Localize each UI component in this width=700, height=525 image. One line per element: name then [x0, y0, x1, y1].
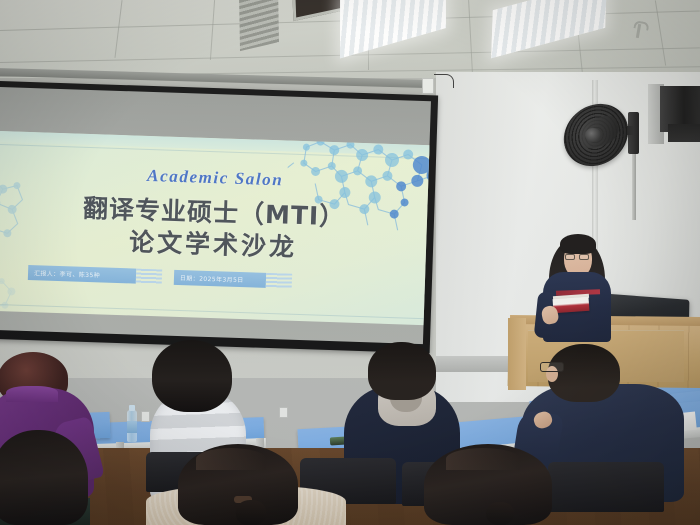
classroom-photo: Academic Salon 翻译专业硕士（MTI） 论文学术沙龙 汇报人：李可…: [0, 0, 700, 525]
hair: [152, 340, 232, 412]
glasses-icon: [565, 254, 591, 260]
ceiling-hook: [636, 24, 641, 38]
ceiling-grid-line: [114, 0, 122, 58]
coat-collar: [6, 386, 58, 402]
air-vent: [239, 0, 279, 51]
fan-support-post: [632, 150, 636, 220]
bottle-label: [127, 421, 137, 433]
slide-date-tag: 日期：2025年3月5日: [174, 270, 266, 288]
wall-mounted-dark-panel: [668, 124, 700, 142]
hair: [368, 342, 436, 400]
fan-hub: [585, 128, 601, 142]
chair: [548, 462, 664, 512]
glasses-icon: [540, 362, 564, 372]
ceiling-light-panel: [340, 0, 446, 58]
speaker-book: [553, 297, 590, 313]
podium-side-panel: [508, 318, 526, 390]
hair: [0, 430, 88, 525]
hair-highlight: [196, 448, 266, 470]
projector-screen: Academic Salon 翻译专业硕士（MTI） 论文学术沙龙 汇报人：李可…: [0, 81, 438, 354]
ponytail: [236, 500, 266, 525]
ponytail: [486, 502, 514, 525]
water-bottle: [127, 410, 137, 442]
presentation-slide: Academic Salon 翻译专业硕士（MTI） 论文学术沙龙 汇报人：李可…: [0, 131, 431, 326]
speaker-hair-top: [560, 234, 596, 254]
hair-highlight: [446, 448, 520, 470]
screen-surface: Academic Salon 翻译专业硕士（MTI） 论文学术沙龙 汇报人：李可…: [0, 87, 431, 344]
ceiling-grid-line: [468, 0, 473, 72]
screen-bracket: [422, 78, 434, 94]
slide-tag-stripes: [136, 269, 162, 285]
hair: [548, 344, 620, 402]
ceiling-grid-line: [210, 0, 215, 60]
slide-tag-stripes: [266, 273, 292, 289]
wall-socket: [279, 407, 288, 418]
ceiling-grid-line: [655, 0, 666, 65]
slide-presenter-tag: 汇报人：李可、陈35种: [28, 265, 136, 284]
wall-socket: [141, 411, 150, 422]
screen-cord: [434, 74, 454, 88]
